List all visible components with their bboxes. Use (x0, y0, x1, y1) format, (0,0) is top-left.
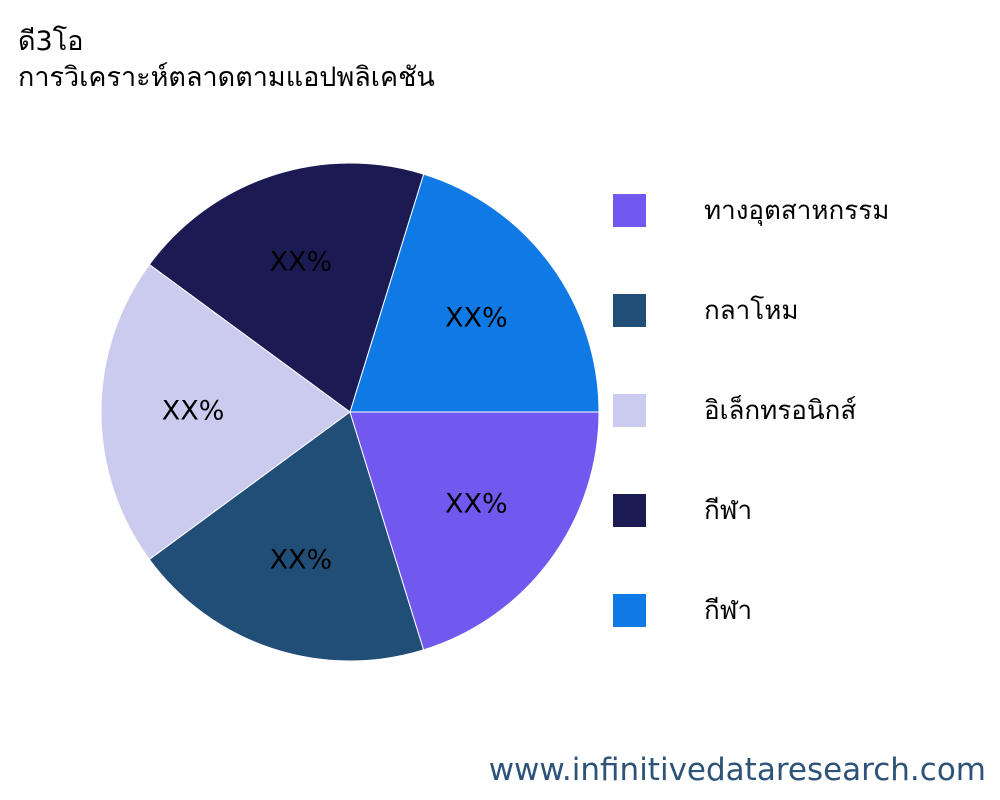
pie-slice-value-label: XX% (445, 489, 508, 520)
pie-slice-value-label: XX% (270, 545, 333, 576)
legend-item[interactable]: กีฬา (613, 460, 993, 560)
legend-item-label: กีฬา (704, 490, 752, 531)
chart-legend: ทางอุตสาหกรรมกลาโหมอิเล็กทรอนิกส์กีฬากีฬ… (613, 160, 993, 660)
legend-color-swatch (613, 194, 646, 227)
legend-color-swatch (613, 594, 646, 627)
legend-item-label: อิเล็กทรอนิกส์ (704, 390, 856, 431)
legend-item[interactable]: อิเล็กทรอนิกส์ (613, 360, 993, 460)
legend-color-swatch (613, 294, 646, 327)
legend-color-swatch (613, 394, 646, 427)
pie-slice-value-label: XX% (445, 302, 508, 333)
legend-item[interactable]: กลาโหม (613, 260, 993, 360)
legend-item[interactable]: กีฬา (613, 560, 993, 660)
legend-item-label: กีฬา (704, 590, 752, 631)
pie-slice-value-label: XX% (270, 247, 333, 278)
footer-website-url: www.infinitivedataresearch.com (489, 752, 986, 788)
legend-item-label: กลาโหม (704, 290, 799, 331)
pie-slice-value-label: XX% (162, 396, 225, 427)
legend-item-label: ทางอุตสาหกรรม (704, 190, 889, 231)
legend-item[interactable]: ทางอุตสาหกรรม (613, 160, 993, 260)
legend-color-swatch (613, 494, 646, 527)
